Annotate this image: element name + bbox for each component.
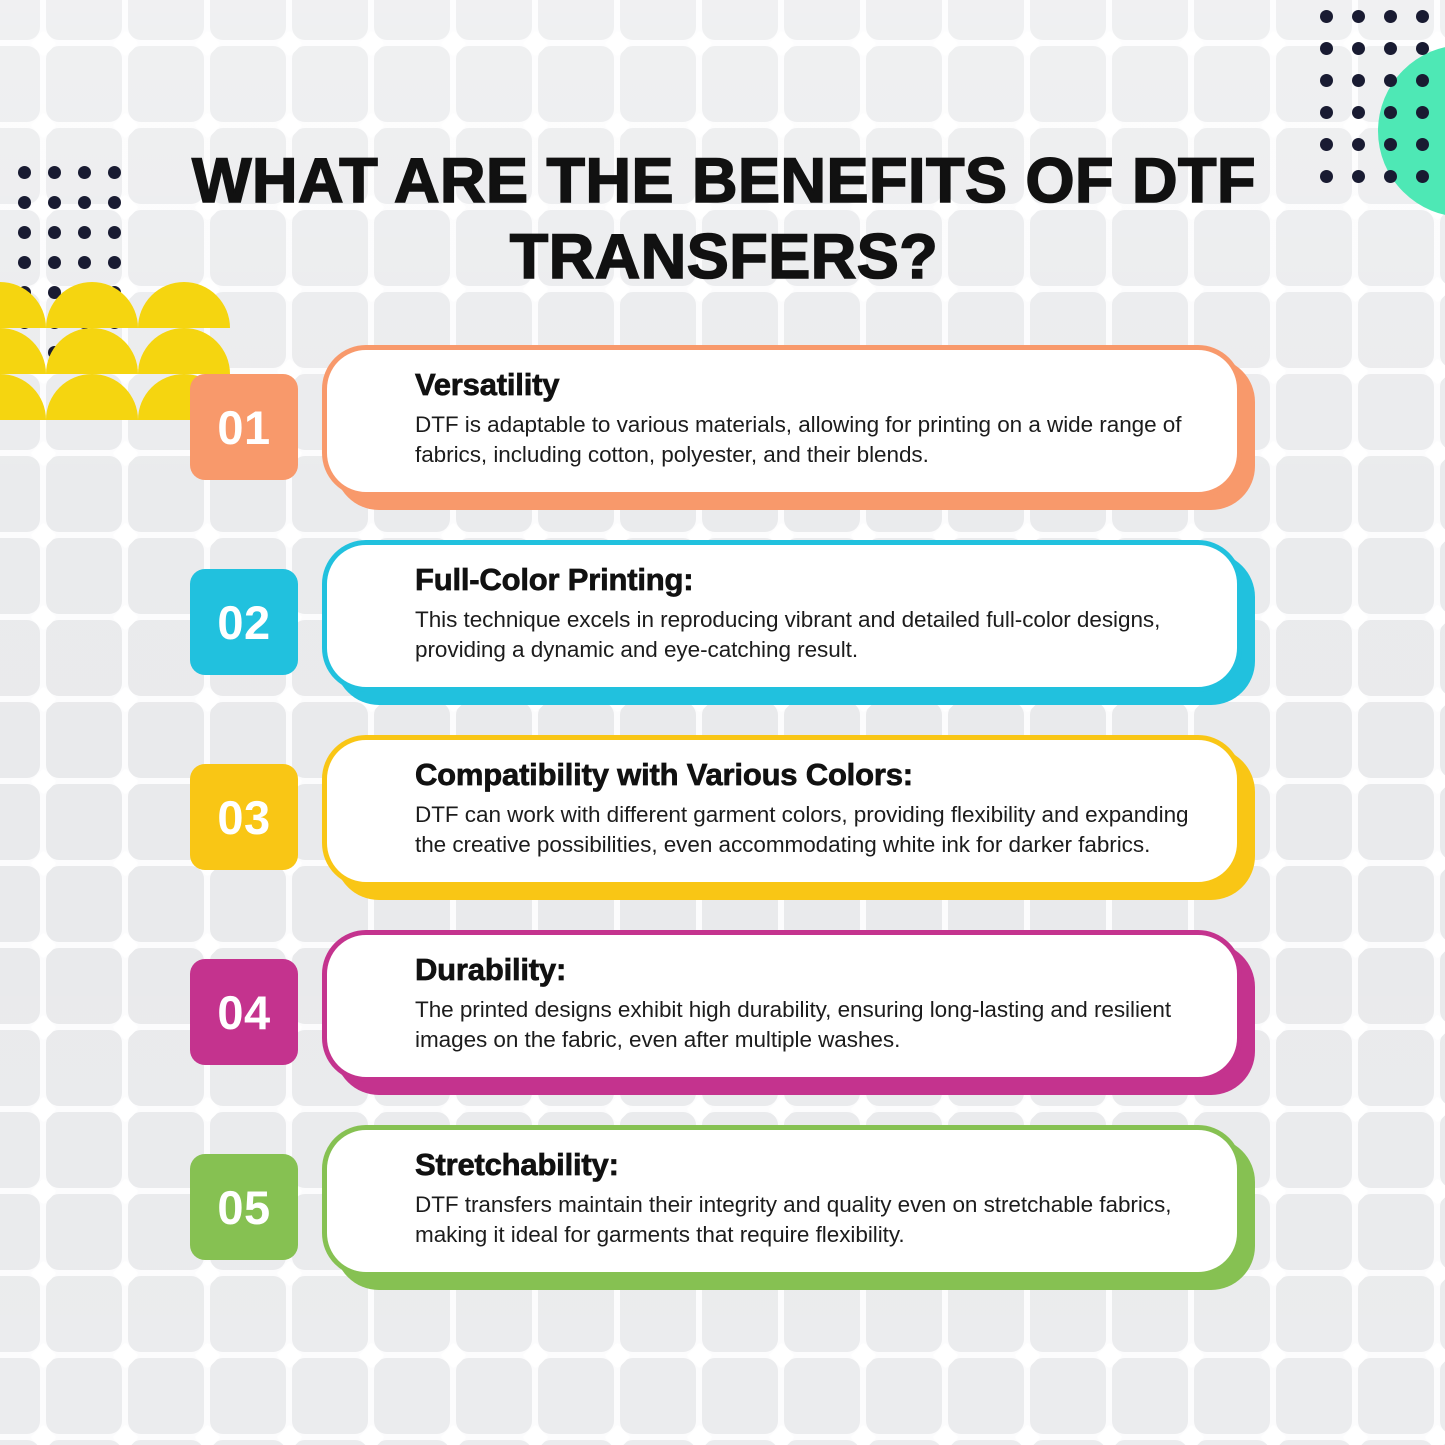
decorative-dot (18, 196, 31, 209)
benefit-heading: Compatibility with Various Colors: (415, 757, 1201, 793)
decorative-dot (18, 226, 31, 239)
background-tile (374, 1440, 450, 1445)
background-tile (866, 0, 942, 40)
benefit-card-surface: Compatibility with Various Colors:DTF ca… (322, 735, 1242, 887)
decorative-dot (48, 256, 61, 269)
background-tile (620, 0, 696, 40)
background-tile (0, 210, 40, 286)
background-tile (292, 46, 368, 122)
background-tile (210, 0, 286, 40)
decorative-dot (108, 226, 121, 239)
benefit-number-badge-04[interactable]: 04 (190, 959, 298, 1065)
benefit-heading: Full-Color Printing: (415, 562, 1201, 598)
benefit-number: 03 (217, 790, 270, 845)
background-tile (948, 1440, 1024, 1445)
background-tile (46, 1358, 122, 1434)
decorative-dot (1320, 74, 1333, 87)
decorative-dot (1352, 170, 1365, 183)
background-tile (1358, 1358, 1434, 1434)
background-tile (128, 46, 204, 122)
background-tile (948, 46, 1024, 122)
background-tile (292, 1440, 368, 1445)
background-tile (1194, 1440, 1270, 1445)
benefit-card[interactable]: Stretchability:DTF transfers maintain th… (322, 1125, 1242, 1277)
background-tile (210, 1358, 286, 1434)
benefit-number: 04 (217, 985, 270, 1040)
background-tile (46, 46, 122, 122)
benefit-number-badge-02[interactable]: 02 (190, 569, 298, 675)
decorative-dot (78, 256, 91, 269)
decorative-dot (1384, 10, 1397, 23)
decorative-dot (1384, 42, 1397, 55)
background-tile (456, 46, 532, 122)
background-tile (1194, 1358, 1270, 1434)
background-tile (1030, 46, 1106, 122)
background-tile (784, 46, 860, 122)
background-tile (784, 1440, 860, 1445)
decorative-dot (1416, 106, 1429, 119)
background-tile (538, 1358, 614, 1434)
benefit-card[interactable]: Full-Color Printing:This technique excel… (322, 540, 1242, 692)
decorative-dot (1416, 74, 1429, 87)
decorative-dot (108, 166, 121, 179)
benefit-number-badge-05[interactable]: 05 (190, 1154, 298, 1260)
benefit-row: 05Stretchability:DTF transfers maintain … (0, 1125, 1445, 1277)
background-tile (0, 46, 40, 122)
background-tile (1276, 46, 1352, 122)
decorative-dot (1416, 170, 1429, 183)
background-tile (702, 46, 778, 122)
decorative-dot (108, 196, 121, 209)
benefit-body: DTF can work with different garment colo… (415, 800, 1201, 860)
background-tile (374, 1358, 450, 1434)
background-tile (620, 46, 696, 122)
infographic-canvas: WHAT ARE THE BENEFITS OF DTF TRANSFERS? … (0, 0, 1445, 1445)
background-tile (702, 1440, 778, 1445)
benefit-number: 05 (217, 1180, 270, 1235)
background-tile (1276, 1440, 1352, 1445)
benefit-heading: Versatility (415, 367, 1201, 403)
background-tile (374, 0, 450, 40)
background-tile (0, 0, 40, 40)
decorative-dot (1352, 74, 1365, 87)
decorative-dot (1320, 106, 1333, 119)
decorative-dot (1352, 42, 1365, 55)
background-tile (128, 1358, 204, 1434)
background-tile (1194, 46, 1270, 122)
decorative-dot (1384, 74, 1397, 87)
benefit-card-surface: Full-Color Printing:This technique excel… (322, 540, 1242, 692)
background-tile (620, 1358, 696, 1434)
decorative-dot (78, 196, 91, 209)
decorative-dot (1384, 106, 1397, 119)
background-tile (1112, 46, 1188, 122)
benefit-number-badge-01[interactable]: 01 (190, 374, 298, 480)
background-tile (210, 46, 286, 122)
background-tile (1112, 1440, 1188, 1445)
benefit-card-surface: Stretchability:DTF transfers maintain th… (322, 1125, 1242, 1277)
benefit-body: The printed designs exhibit high durabil… (415, 995, 1201, 1055)
benefit-card-surface: Durability:The printed designs exhibit h… (322, 930, 1242, 1082)
benefit-card[interactable]: VersatilityDTF is adaptable to various m… (322, 345, 1242, 497)
benefit-card[interactable]: Durability:The printed designs exhibit h… (322, 930, 1242, 1082)
background-tile (46, 210, 122, 286)
background-tile (0, 128, 40, 204)
benefit-heading: Durability: (415, 952, 1201, 988)
background-tile (866, 1358, 942, 1434)
background-tile (620, 1440, 696, 1445)
decorative-dot (78, 166, 91, 179)
decorative-dot (108, 256, 121, 269)
background-tile (1276, 128, 1352, 204)
background-tile (1030, 1358, 1106, 1434)
benefit-row: 03Compatibility with Various Colors:DTF … (0, 735, 1445, 887)
background-tile (128, 0, 204, 40)
decorative-dot (78, 226, 91, 239)
decorative-dot (1416, 42, 1429, 55)
background-tile (1276, 210, 1352, 286)
decorative-dot (1352, 10, 1365, 23)
background-tile (1276, 1358, 1352, 1434)
benefits-list: 01VersatilityDTF is adaptable to various… (0, 345, 1445, 1320)
background-tile (210, 1440, 286, 1445)
background-tile (292, 0, 368, 40)
benefit-row: 02Full-Color Printing:This technique exc… (0, 540, 1445, 692)
decorative-dot (1384, 170, 1397, 183)
background-tile (702, 1358, 778, 1434)
background-tile (128, 1440, 204, 1445)
decorative-dot (1320, 138, 1333, 151)
background-tile (292, 1358, 368, 1434)
background-tile (456, 0, 532, 40)
background-tile (702, 0, 778, 40)
background-tile (1440, 210, 1445, 286)
benefit-row: 04Durability:The printed designs exhibit… (0, 930, 1445, 1082)
background-tile (538, 0, 614, 40)
background-tile (866, 1440, 942, 1445)
background-tile (1112, 1358, 1188, 1434)
decorative-dot (48, 226, 61, 239)
decorative-dot (1352, 138, 1365, 151)
background-tile (538, 46, 614, 122)
decorative-dot (1352, 106, 1365, 119)
benefit-body: DTF transfers maintain their integrity a… (415, 1190, 1201, 1250)
decorative-dot (1384, 138, 1397, 151)
decorative-dot (1320, 42, 1333, 55)
background-tile (1358, 210, 1434, 286)
background-tile (1276, 0, 1352, 40)
background-tile (948, 0, 1024, 40)
benefit-heading: Stretchability: (415, 1147, 1201, 1183)
background-tile (456, 1440, 532, 1445)
benefit-number: 02 (217, 595, 270, 650)
background-tile (538, 1440, 614, 1445)
background-tile (1030, 0, 1106, 40)
background-tile (1030, 1440, 1106, 1445)
background-tile (1112, 0, 1188, 40)
page-title: WHAT ARE THE BENEFITS OF DTF TRANSFERS? (190, 143, 1258, 295)
background-tile (374, 46, 450, 122)
background-tile (1194, 0, 1270, 40)
benefit-body: This technique excels in reproducing vib… (415, 605, 1201, 665)
benefit-number: 01 (217, 400, 270, 455)
background-tile (1358, 1440, 1434, 1445)
decorative-dot (1320, 10, 1333, 23)
benefit-body: DTF is adaptable to various materials, a… (415, 410, 1201, 470)
benefit-number-badge-03[interactable]: 03 (190, 764, 298, 870)
background-tile (1440, 1358, 1445, 1434)
benefit-card-surface: VersatilityDTF is adaptable to various m… (322, 345, 1242, 497)
background-tile (46, 0, 122, 40)
decorative-dot (18, 256, 31, 269)
benefit-row: 01VersatilityDTF is adaptable to various… (0, 345, 1445, 497)
background-tile (948, 1358, 1024, 1434)
decorative-dot (48, 166, 61, 179)
background-tile (866, 46, 942, 122)
decorative-dot (1320, 170, 1333, 183)
decorative-dot (48, 196, 61, 209)
benefit-card[interactable]: Compatibility with Various Colors:DTF ca… (322, 735, 1242, 887)
decorative-dot (1416, 10, 1429, 23)
background-tile (46, 1440, 122, 1445)
background-tile (0, 1358, 40, 1434)
background-tile (456, 1358, 532, 1434)
decorative-dot (1416, 138, 1429, 151)
background-tile (784, 0, 860, 40)
decorative-dot (18, 166, 31, 179)
background-tile (784, 1358, 860, 1434)
